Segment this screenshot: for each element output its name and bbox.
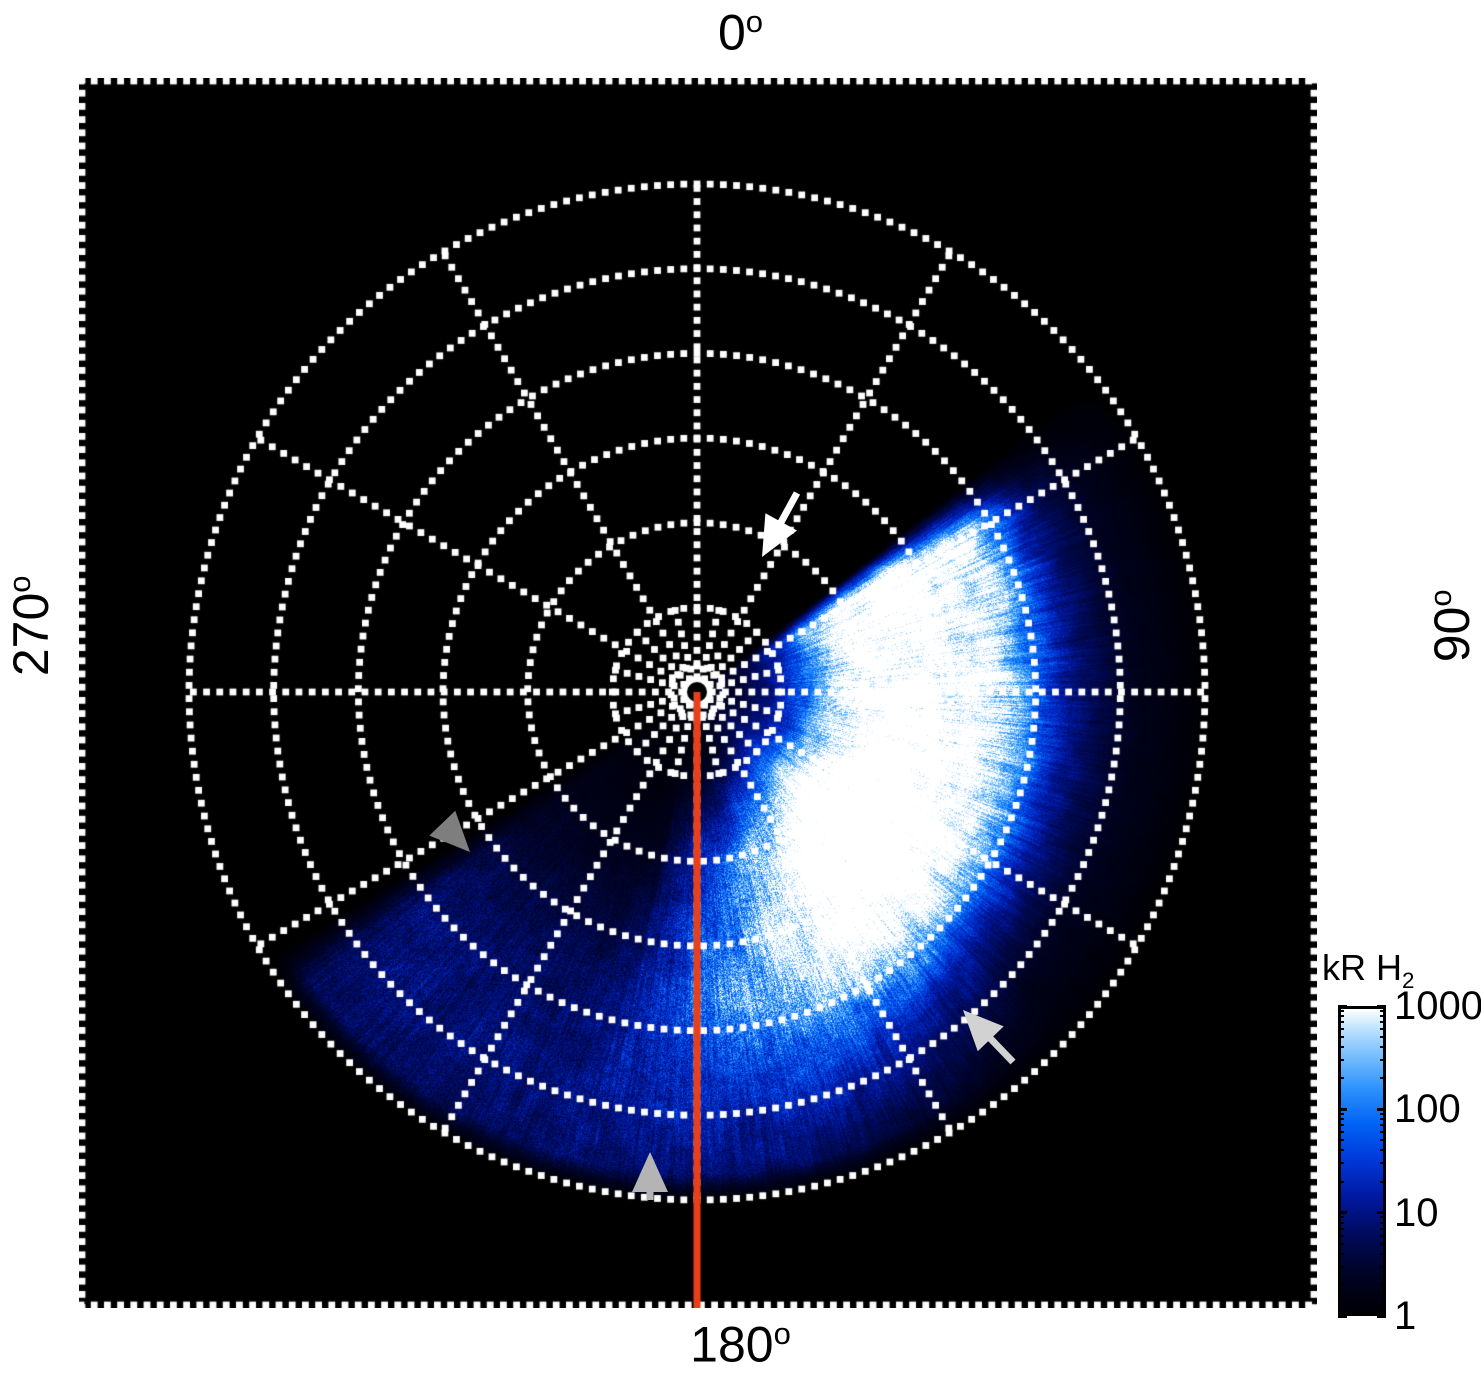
colorbar-minor-tick bbox=[1338, 1235, 1344, 1237]
colorbar-minor-tick bbox=[1380, 1253, 1386, 1255]
colorbar-minor-tick bbox=[1380, 1235, 1386, 1237]
colorbar-minor-tick bbox=[1380, 1036, 1386, 1038]
colorbar-minor-tick bbox=[1338, 1139, 1344, 1141]
colorbar-major-tick bbox=[1338, 1108, 1347, 1111]
colorbar-tick-label: 1 bbox=[1394, 1296, 1416, 1336]
axis-label-0-value: 0 bbox=[718, 5, 746, 61]
colorbar-minor-tick bbox=[1338, 1046, 1344, 1048]
colorbar-minor-tick bbox=[1338, 1162, 1344, 1164]
colorbar-minor-tick bbox=[1380, 1228, 1386, 1230]
colorbar-minor-tick bbox=[1338, 1216, 1344, 1218]
degree-symbol: o bbox=[774, 1316, 791, 1351]
colorbar-minor-tick bbox=[1380, 1015, 1386, 1017]
colorbar-minor-tick bbox=[1380, 1021, 1386, 1023]
colorbar-minor-tick bbox=[1338, 1021, 1344, 1023]
colorbar-minor-tick bbox=[1338, 1222, 1344, 1224]
degree-symbol: o bbox=[746, 4, 763, 39]
colorbar-minor-tick bbox=[1338, 1059, 1344, 1061]
colorbar-major-tick bbox=[1377, 1315, 1386, 1318]
colorbar-minor-tick bbox=[1380, 1028, 1386, 1030]
colorbar-minor-tick bbox=[1380, 1139, 1386, 1141]
colorbar-title-main: kR H bbox=[1322, 947, 1402, 988]
colorbar-minor-tick bbox=[1380, 1149, 1386, 1151]
colorbar-minor-tick bbox=[1380, 1266, 1386, 1268]
colorbar-major-tick bbox=[1338, 1005, 1347, 1008]
colorbar-minor-tick bbox=[1380, 1222, 1386, 1224]
colorbar-minor-tick bbox=[1380, 1181, 1386, 1183]
colorbar-minor-tick bbox=[1338, 1118, 1344, 1120]
colorbar-minor-tick bbox=[1380, 1118, 1386, 1120]
axis-label-180-value: 180 bbox=[690, 1317, 773, 1373]
colorbar-minor-tick bbox=[1338, 1124, 1344, 1126]
colorbar-minor-tick bbox=[1380, 1243, 1386, 1245]
colorbar-minor-tick bbox=[1338, 1028, 1344, 1030]
colorbar-minor-tick bbox=[1338, 1149, 1344, 1151]
axis-label-180: 180o bbox=[0, 1318, 1481, 1370]
colorbar-minor-tick bbox=[1380, 1113, 1386, 1115]
colorbar-minor-tick bbox=[1380, 1077, 1386, 1079]
colorbar-major-tick bbox=[1377, 1005, 1386, 1008]
colorbar-minor-tick bbox=[1380, 1010, 1386, 1012]
colorbar-minor-tick bbox=[1338, 1015, 1344, 1017]
axis-label-90-value: 90 bbox=[1424, 607, 1480, 663]
colorbar-minor-tick bbox=[1338, 1243, 1344, 1245]
axis-label-90: 90o bbox=[1425, 536, 1477, 716]
colorbar-minor-tick bbox=[1338, 1113, 1344, 1115]
axis-label-270-value: 270 bbox=[3, 593, 59, 676]
colorbar-minor-tick bbox=[1338, 1036, 1344, 1038]
colorbar-minor-tick bbox=[1380, 1046, 1386, 1048]
colorbar-gradient bbox=[1338, 1006, 1386, 1316]
colorbar-minor-tick bbox=[1338, 1010, 1344, 1012]
colorbar-tick-label: 100 bbox=[1394, 1089, 1461, 1129]
colorbar-minor-tick bbox=[1338, 1077, 1344, 1079]
axis-label-270: 270o bbox=[4, 536, 56, 716]
colorbar-minor-tick bbox=[1338, 1253, 1344, 1255]
colorbar-major-tick bbox=[1377, 1211, 1386, 1214]
colorbar-minor-tick bbox=[1380, 1162, 1386, 1164]
polar-plot-panel bbox=[79, 78, 1317, 1308]
colorbar-minor-tick bbox=[1380, 1124, 1386, 1126]
colorbar-minor-tick bbox=[1380, 1216, 1386, 1218]
figure-root: 0o 180o 270o 90o kR H2 1000100101 bbox=[0, 0, 1481, 1386]
aurora-polar-image bbox=[79, 78, 1317, 1308]
colorbar-major-tick bbox=[1338, 1211, 1347, 1214]
colorbar-minor-tick bbox=[1380, 1059, 1386, 1061]
colorbar-minor-tick bbox=[1338, 1266, 1344, 1268]
colorbar-tick-label: 10 bbox=[1394, 1193, 1439, 1233]
degree-symbol: o bbox=[2, 575, 37, 592]
colorbar-minor-tick bbox=[1380, 1131, 1386, 1133]
colorbar: kR H2 1000100101 bbox=[1318, 950, 1481, 1330]
colorbar-major-tick bbox=[1338, 1315, 1347, 1318]
colorbar-major-tick bbox=[1377, 1108, 1386, 1111]
colorbar-minor-tick bbox=[1338, 1228, 1344, 1230]
colorbar-minor-tick bbox=[1380, 1284, 1386, 1286]
colorbar-tick-label: 1000 bbox=[1394, 986, 1481, 1026]
colorbar-minor-tick bbox=[1338, 1131, 1344, 1133]
colorbar-minor-tick bbox=[1338, 1181, 1344, 1183]
colorbar-minor-tick bbox=[1338, 1284, 1344, 1286]
degree-symbol: o bbox=[1423, 589, 1458, 606]
axis-label-0: 0o bbox=[0, 6, 1481, 58]
